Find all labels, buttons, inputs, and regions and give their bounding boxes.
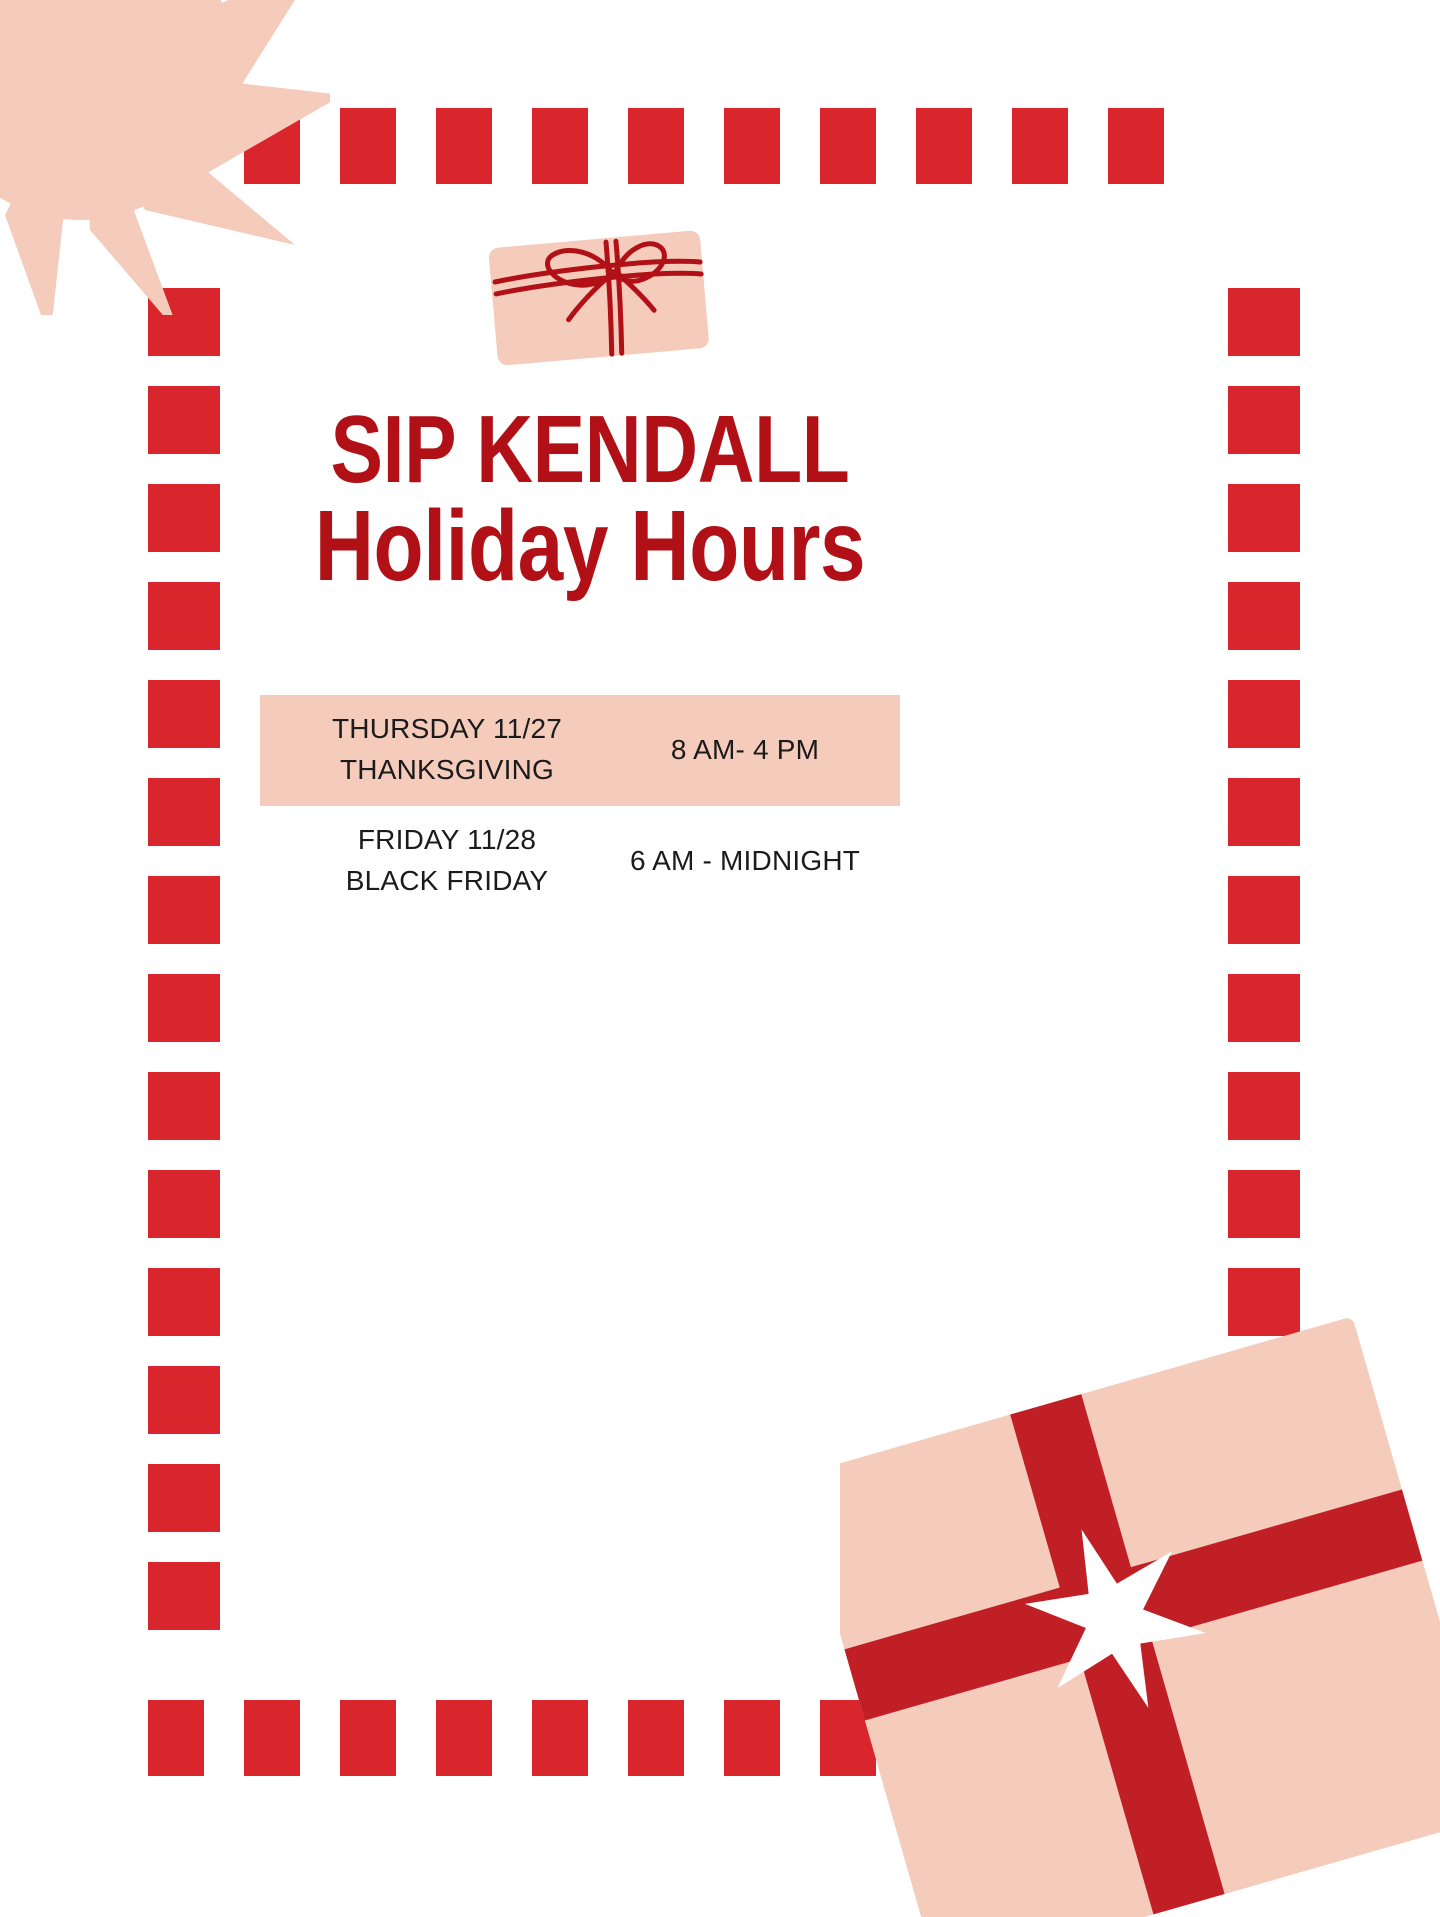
- border-dash: [148, 1700, 204, 1776]
- schedule-day-label: FRIDAY 11/28 BLACK FRIDAY: [282, 820, 612, 901]
- schedule-hours: 8 AM- 4 PM: [612, 734, 878, 766]
- border-dash: [148, 1464, 220, 1532]
- schedule-day-name: THANKSGIVING: [282, 750, 612, 791]
- border-dash: [148, 1170, 220, 1238]
- border-dash: [148, 1268, 220, 1336]
- border-dash: [724, 1700, 780, 1776]
- title-line-two: Holiday Hours: [106, 499, 1074, 594]
- border-dash: [1228, 876, 1300, 944]
- border-dash: [148, 1562, 220, 1630]
- border-dash: [1228, 582, 1300, 650]
- schedule-row-thanksgiving: THURSDAY 11/27 THANKSGIVING 8 AM- 4 PM: [260, 695, 900, 806]
- border-dash: [628, 1700, 684, 1776]
- border-dash: [148, 974, 220, 1042]
- border-dash: [148, 778, 220, 846]
- schedule-day-label: THURSDAY 11/27 THANKSGIVING: [282, 709, 612, 790]
- border-dash: [1228, 974, 1300, 1042]
- border-dash: [340, 108, 396, 184]
- border-dash: [532, 108, 588, 184]
- gift-box-icon: [840, 1260, 1440, 1917]
- schedule-hours: 6 AM - MIDNIGHT: [612, 845, 878, 877]
- border-dash: [724, 108, 780, 184]
- border-dash: [148, 1072, 220, 1140]
- schedule-day-date: THURSDAY 11/27: [332, 713, 562, 744]
- starburst-icon: [0, 0, 330, 315]
- border-dash: [244, 1700, 300, 1776]
- schedule-day-name: BLACK FRIDAY: [282, 861, 612, 902]
- border-dash: [1228, 1170, 1300, 1238]
- border-dash: [1228, 386, 1300, 454]
- border-dash: [1228, 484, 1300, 552]
- border-dash: [1108, 108, 1164, 184]
- border-dash: [1228, 680, 1300, 748]
- border-dash: [1228, 1072, 1300, 1140]
- border-dash: [436, 108, 492, 184]
- border-dash: [340, 1700, 396, 1776]
- border-dash: [628, 108, 684, 184]
- holiday-hours-poster: SIP KENDALL Holiday Hours THURSDAY 11/27…: [0, 0, 1440, 1917]
- border-dash: [148, 876, 220, 944]
- border-dash: [436, 1700, 492, 1776]
- border-dash: [1012, 108, 1068, 184]
- schedule-row-black-friday: FRIDAY 11/28 BLACK FRIDAY 6 AM - MIDNIGH…: [260, 806, 900, 917]
- page-title: SIP KENDALL Holiday Hours: [0, 404, 1180, 594]
- title-line-one: SIP KENDALL: [106, 404, 1074, 495]
- border-dash: [532, 1700, 588, 1776]
- holiday-hours-schedule: THURSDAY 11/27 THANKSGIVING 8 AM- 4 PM F…: [260, 695, 900, 917]
- gift-box-icon: [487, 229, 712, 372]
- border-dash: [1228, 288, 1300, 356]
- schedule-day-date: FRIDAY 11/28: [358, 824, 536, 855]
- border-dash: [148, 680, 220, 748]
- border-dash: [1228, 778, 1300, 846]
- border-dash: [820, 108, 876, 184]
- border-dash: [148, 1366, 220, 1434]
- border-dash: [916, 108, 972, 184]
